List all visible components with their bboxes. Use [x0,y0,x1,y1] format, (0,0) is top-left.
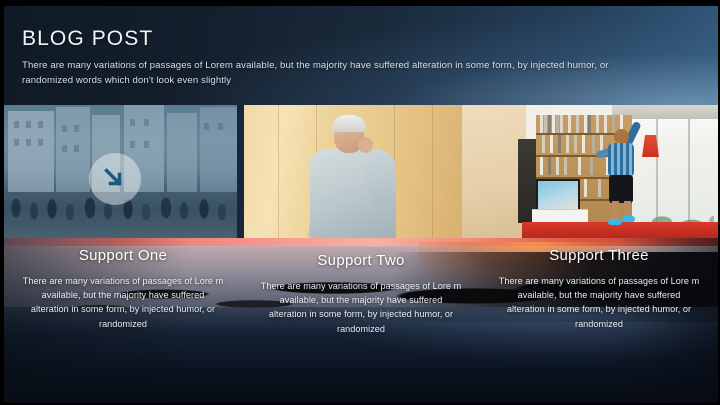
boy-jumping-living-room-photo[interactable] [462,105,718,238]
living-room-image-art [462,105,718,238]
support-three-title: Support Three [498,248,700,265]
media-gap-divider [237,105,244,238]
blog-post-slide: BLOG POST There are many variations of p… [0,0,720,405]
slide-edge-top [0,0,720,6]
support-one-body: There are many variations of passages of… [22,274,224,332]
support-three-body: There are many variations of passages of… [498,274,700,332]
support-two-title: Support Two [260,253,462,270]
media-strip [4,105,718,238]
page-title: BLOG POST [22,28,690,49]
support-two-body: There are many variations of passages of… [260,279,462,337]
city-street-crowd-photo[interactable] [4,105,237,238]
elderly-man-eating-photo[interactable] [244,105,462,238]
header-text-block: BLOG POST There are many variations of p… [22,28,690,88]
arrow-down-right-icon [102,166,128,192]
support-columns: Support One There are many variations of… [4,248,718,368]
support-one-title: Support One [22,248,224,265]
page-subtitle: There are many variations of passages of… [22,59,662,88]
slide-edge-left [0,0,4,405]
support-column-two: Support Two There are many variations of… [242,248,480,368]
play-circle-button[interactable] [89,153,141,205]
support-column-three: Support Three There are many variations … [480,248,718,368]
elderly-man-image-art [244,105,462,238]
support-column-one: Support One There are many variations of… [4,248,242,368]
slide-header: BLOG POST There are many variations of p… [0,6,720,105]
